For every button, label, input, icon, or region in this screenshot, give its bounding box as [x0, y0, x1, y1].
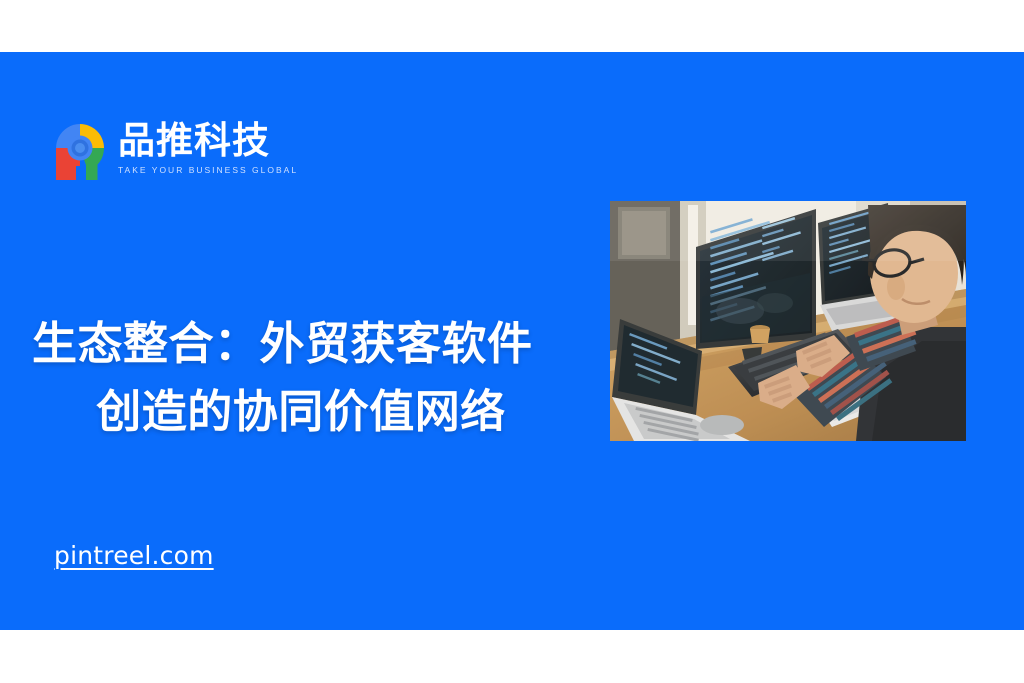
developer-workspace-photo [610, 201, 966, 441]
brand-name-cn: 品推科技 [118, 120, 270, 162]
page-title: 生态整合：外贸获客软件 创造的协同价值网络 [18, 310, 584, 446]
cover-canvas: 品推科技 TAKE YOUR BUSINESS GLOBAL 生态整合：外贸获客… [0, 0, 1024, 683]
brand-tagline: TAKE YOUR BUSINESS GLOBAL [118, 165, 298, 176]
brand-logo[interactable]: 品推科技 TAKE YOUR BUSINESS GLOBAL [50, 118, 298, 184]
page-title-line-2: 创造的协同价值网络 [18, 378, 584, 446]
site-url-link[interactable]: pintreel.com [54, 540, 214, 572]
logo-text-block: 品推科技 TAKE YOUR BUSINESS GLOBAL [118, 118, 298, 176]
pintreel-pa-monogram-icon [50, 118, 110, 184]
page-title-line-1: 生态整合：外贸获客软件 [18, 310, 584, 378]
hero-photo [610, 201, 966, 441]
blue-banner: 品推科技 TAKE YOUR BUSINESS GLOBAL 生态整合：外贸获客… [0, 52, 1024, 630]
